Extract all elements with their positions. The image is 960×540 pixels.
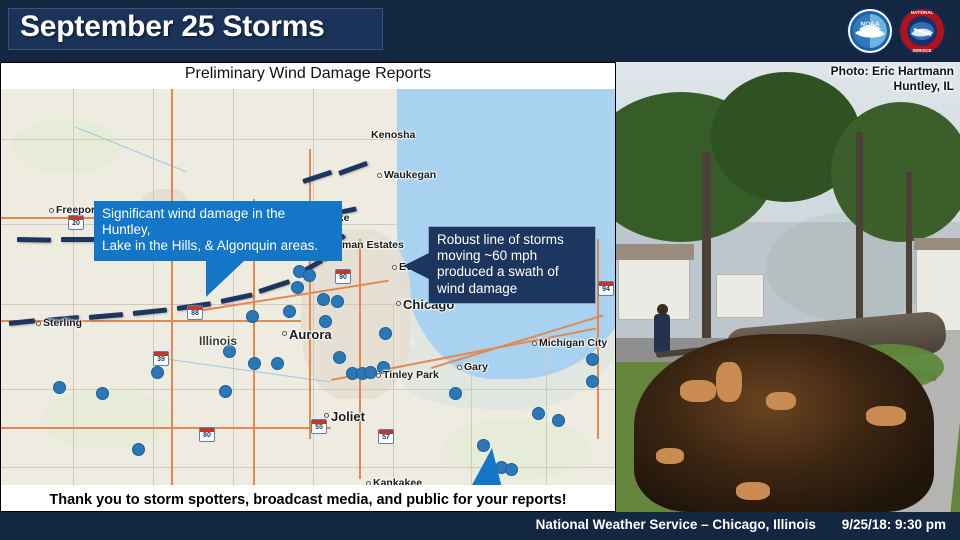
wind-damage-report-dot[interactable] xyxy=(379,327,392,340)
person-head xyxy=(657,304,668,315)
highway xyxy=(171,89,173,485)
photo-credit-line-2: Huntley, IL xyxy=(831,79,954,94)
tree-trunk xyxy=(702,152,711,352)
wind-damage-report-dot[interactable] xyxy=(449,387,462,400)
city-marker-joliet xyxy=(324,413,329,418)
tree-trunk xyxy=(856,132,863,332)
highway xyxy=(359,239,361,479)
house-left xyxy=(618,258,690,320)
interstate-shield-88: 88 xyxy=(187,305,203,320)
map-heading: Preliminary Wind Damage Reports xyxy=(1,65,615,83)
interstate-shield-39: 39 xyxy=(153,351,169,366)
county-line xyxy=(546,344,547,485)
svg-text:NATIONAL: NATIONAL xyxy=(911,10,934,15)
city-marker-waukegan xyxy=(377,173,382,178)
interstate-shield-55: 55 xyxy=(311,419,327,434)
city-label-kenosha: Kenosha xyxy=(371,129,415,141)
wind-damage-report-dot[interactable] xyxy=(552,414,565,427)
wind-damage-report-dot[interactable] xyxy=(219,385,232,398)
highway xyxy=(1,427,331,429)
city-label-illinois: Illinois xyxy=(199,334,237,348)
header-bar: September 25 Storms NOAA NATIONAL SERVI xyxy=(0,0,960,62)
city-label-gary: Gary xyxy=(464,361,488,373)
wind-damage-report-dot[interactable] xyxy=(291,281,304,294)
splintered-wood xyxy=(680,380,716,402)
map-panel: Preliminary Wind Damage Reports xyxy=(0,62,616,512)
county-line xyxy=(153,89,154,485)
storm-track-dash xyxy=(17,237,51,243)
city-label-sterling: Sterling xyxy=(43,317,82,329)
nws-logo: NATIONAL SERVICE xyxy=(898,7,946,55)
city-marker-gary xyxy=(457,365,462,370)
callout-tail xyxy=(206,261,244,297)
callout-robust-line-1: Robust line of storms xyxy=(437,232,587,248)
callout-huntley[interactable]: Significant wind damage in the Huntley, … xyxy=(94,201,342,261)
wind-damage-report-dot[interactable] xyxy=(331,295,344,308)
city-marker-kankakee xyxy=(366,481,371,485)
wind-damage-report-dot[interactable] xyxy=(586,375,599,388)
interstate-shield-57: 57 xyxy=(378,429,394,444)
interstate-shield-80: 80 xyxy=(199,427,215,442)
county-line xyxy=(1,139,401,140)
footer-bar: National Weather Service – Chicago, Illi… xyxy=(0,512,960,540)
photo-credit: Photo: Eric Hartmann Huntley, IL xyxy=(831,64,954,94)
house-mid xyxy=(716,274,764,318)
callout-huntley-line-1: Significant wind damage in the Huntley, xyxy=(102,206,334,238)
city-marker-tinley-park xyxy=(376,373,381,378)
wind-damage-report-dot[interactable] xyxy=(246,310,259,323)
callout-robust-line-4: wind damage xyxy=(437,281,587,297)
interstate-shield-94: 94 xyxy=(598,281,614,296)
county-line xyxy=(1,304,421,305)
city-label-aurora: Aurora xyxy=(289,327,332,342)
interstate-shield-90: 90 xyxy=(335,269,351,284)
county-line xyxy=(393,304,394,485)
wind-damage-report-dot[interactable] xyxy=(132,443,145,456)
photo-credit-line-1: Photo: Eric Hartmann xyxy=(831,64,954,79)
wind-damage-report-dot[interactable] xyxy=(333,351,346,364)
wind-damage-report-dot[interactable] xyxy=(532,407,545,420)
footer-office: National Weather Service – Chicago, Illi… xyxy=(536,517,816,532)
callout-robust-line-2: moving ~60 mph xyxy=(437,248,587,264)
county-line xyxy=(1,467,615,468)
splintered-wood xyxy=(866,406,906,426)
city-label-tinley-park: Tinley Park xyxy=(383,369,439,381)
highway xyxy=(309,149,311,439)
city-marker-aurora xyxy=(282,331,287,336)
interstate-shield-20: 20 xyxy=(68,215,84,230)
wind-damage-report-dot[interactable] xyxy=(248,357,261,370)
splintered-wood xyxy=(736,482,770,500)
wind-damage-report-dot[interactable] xyxy=(303,269,316,282)
wind-damage-report-dot[interactable] xyxy=(271,357,284,370)
storm-damage-photo: Photo: Eric Hartmann Huntley, IL xyxy=(616,62,960,512)
spotter-thanks-note: Thank you to storm spotters, broadcast m… xyxy=(1,492,615,508)
wind-damage-report-dot[interactable] xyxy=(151,366,164,379)
splintered-wood xyxy=(716,362,742,402)
callout-robust-line[interactable]: Robust line of storms moving ~60 mph pro… xyxy=(428,226,596,304)
callout-robust-line-3: produced a swath of xyxy=(437,264,587,280)
wind-damage-report-dot[interactable] xyxy=(505,463,518,476)
callout-huntley-line-2: Lake in the Hills, & Algonquin areas. xyxy=(102,238,334,254)
wind-damage-report-dot[interactable] xyxy=(364,366,377,379)
splintered-wood xyxy=(656,448,684,464)
callout-tail xyxy=(403,253,429,279)
noaa-logo: NOAA xyxy=(846,7,894,55)
city-marker-evanston xyxy=(392,265,397,270)
storm-track-dash xyxy=(61,237,95,242)
page-title: September 25 Storms xyxy=(20,10,325,44)
footer-datetime: 9/25/18: 9:30 pm xyxy=(842,517,946,532)
city-marker-chicago xyxy=(396,301,401,306)
footer-text: National Weather Service – Chicago, Illi… xyxy=(536,517,946,532)
wind-damage-report-dot[interactable] xyxy=(317,293,330,306)
svg-text:SERVICE: SERVICE xyxy=(912,48,931,53)
damage-report-map[interactable]: 2088909439805557 FreeportRockfordCrystal… xyxy=(1,89,615,485)
city-label-michigan-city: Michigan City xyxy=(539,337,607,349)
person-with-chainsaw xyxy=(654,314,670,354)
wind-damage-report-dot[interactable] xyxy=(53,381,66,394)
svg-text:NOAA: NOAA xyxy=(860,21,879,28)
wind-damage-report-dot[interactable] xyxy=(283,305,296,318)
house-roof xyxy=(914,238,960,250)
city-marker-freeport xyxy=(49,208,54,213)
city-label-kankakee: Kankakee xyxy=(373,477,422,485)
wind-damage-report-dot[interactable] xyxy=(96,387,109,400)
house-roof xyxy=(616,244,694,260)
slide-root: September 25 Storms NOAA NATIONAL SERVI xyxy=(0,0,960,540)
city-label-waukegan: Waukegan xyxy=(384,169,436,181)
city-marker-sterling xyxy=(36,321,41,326)
splintered-wood xyxy=(766,392,796,410)
greenspace-nw xyxy=(11,119,121,174)
callout-tail xyxy=(466,448,504,485)
county-line xyxy=(73,89,74,485)
wind-damage-report-dot[interactable] xyxy=(586,353,599,366)
city-label-joliet: Joliet xyxy=(331,409,365,424)
city-label-freeport: Freeport xyxy=(56,204,99,216)
city-marker-michigan-city xyxy=(532,341,537,346)
